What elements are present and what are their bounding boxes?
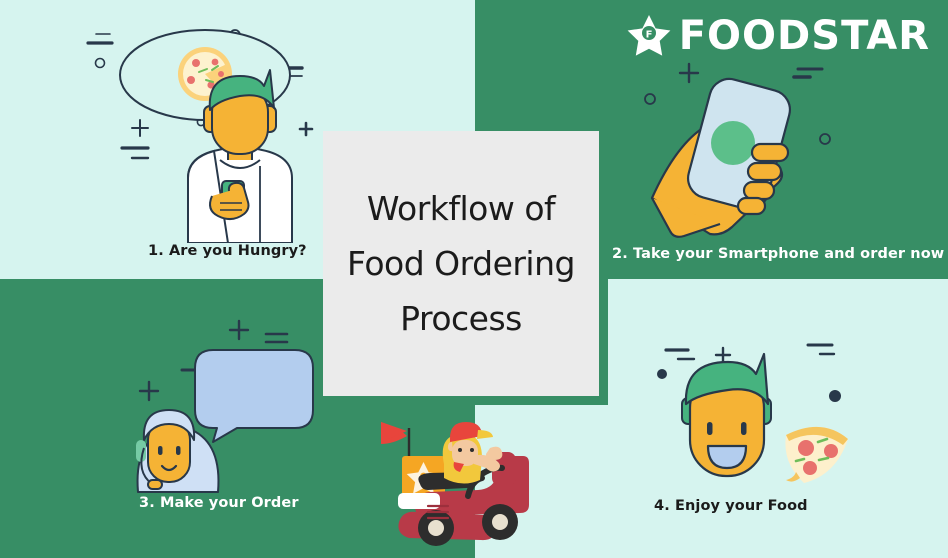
page-title-line-1: Workflow of: [347, 181, 575, 236]
svg-text:F: F: [645, 30, 652, 41]
step-caption-4: 4. Enjoy your Food: [654, 498, 808, 514]
pizza-slice-icon: [785, 427, 848, 483]
brand-logo[interactable]: F FOODSTAR: [626, 14, 930, 58]
phone-app-icon: [711, 121, 755, 165]
infographic-canvas: Workflow of Food Ordering Process F FOOD…: [0, 0, 948, 558]
courier-cap: [450, 422, 482, 442]
page-title-line-2: Food Ordering: [347, 236, 575, 291]
page-title: Workflow of Food Ordering Process: [335, 181, 587, 346]
brand-name: FOODSTAR: [679, 16, 930, 56]
illustration-delivery-scooter-courier: [372, 400, 537, 558]
step-caption-3: 3. Make your Order: [139, 495, 299, 511]
star-with-f-icon: F: [626, 14, 672, 58]
speech-bubble: [195, 350, 313, 442]
waving-hand: [486, 447, 502, 460]
illustration-hand-holding-smartphone: [620, 58, 885, 243]
headset-mic-icon: [148, 480, 162, 489]
courier-face: [452, 440, 478, 466]
illustration-support-agent-with-speech-bubble: [120, 300, 325, 500]
illustration-person-thinking-about-pizza: [60, 18, 335, 243]
step-caption-2: 2. Take your Smartphone and order now: [612, 246, 944, 262]
smiling-mouth: [708, 446, 746, 468]
step-caption-1: 1. Are you Hungry?: [148, 243, 307, 259]
illustration-happy-face-with-pizza-slice: [640, 330, 875, 495]
page-title-line-3: Process: [347, 291, 575, 346]
center-title-card: Workflow of Food Ordering Process: [323, 131, 599, 396]
